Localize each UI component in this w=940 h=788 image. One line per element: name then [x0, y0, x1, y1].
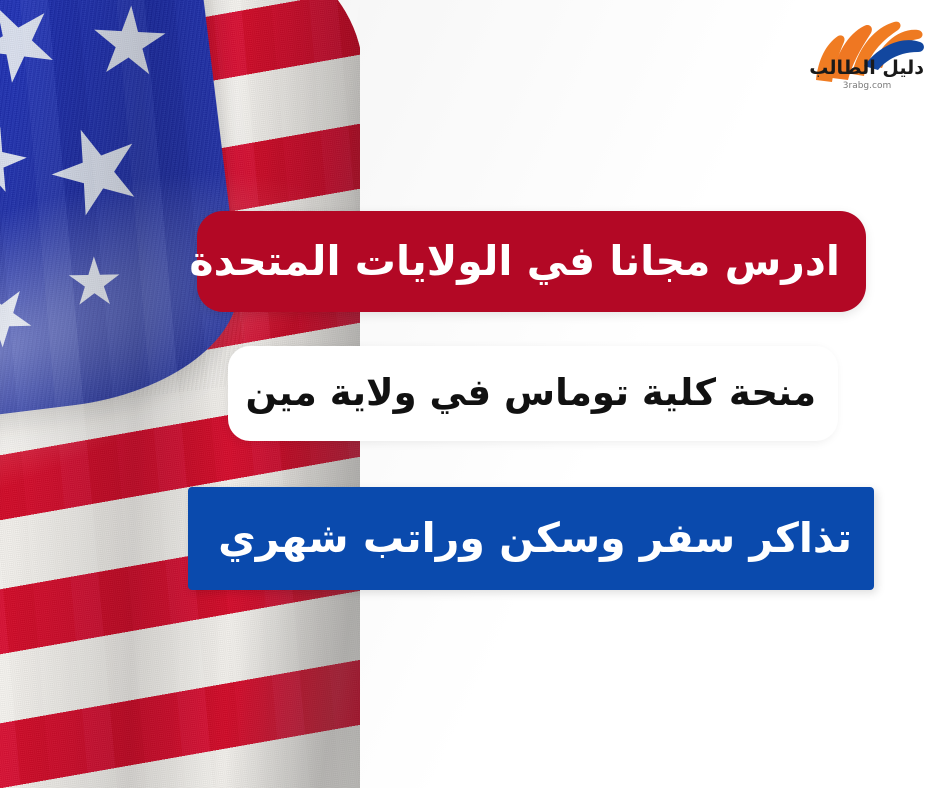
- headline-banner-blue: تذاكر سفر وسكن وراتب شهري: [188, 487, 874, 590]
- headline-banner-white-text: منحة كلية توماس في ولاية مين: [246, 374, 816, 413]
- logo-wordmark: دليل الطالب: [810, 59, 924, 78]
- site-logo[interactable]: دليل الطالب 3rabg.com: [808, 8, 926, 92]
- logo-swoosh-icon: [808, 8, 926, 92]
- headline-banner-white: منحة كلية توماس في ولاية مين: [228, 346, 838, 441]
- headline-banner-blue-text: تذاكر سفر وسكن وراتب شهري: [218, 517, 852, 560]
- logo-url: 3rabg.com: [814, 82, 920, 91]
- poster-canvas: دليل الطالب 3rabg.com ادرس مجانا في الول…: [0, 0, 940, 788]
- headline-banner-red: ادرس مجانا في الولايات المتحدة: [197, 211, 866, 312]
- headline-banner-red-text: ادرس مجانا في الولايات المتحدة: [189, 240, 840, 283]
